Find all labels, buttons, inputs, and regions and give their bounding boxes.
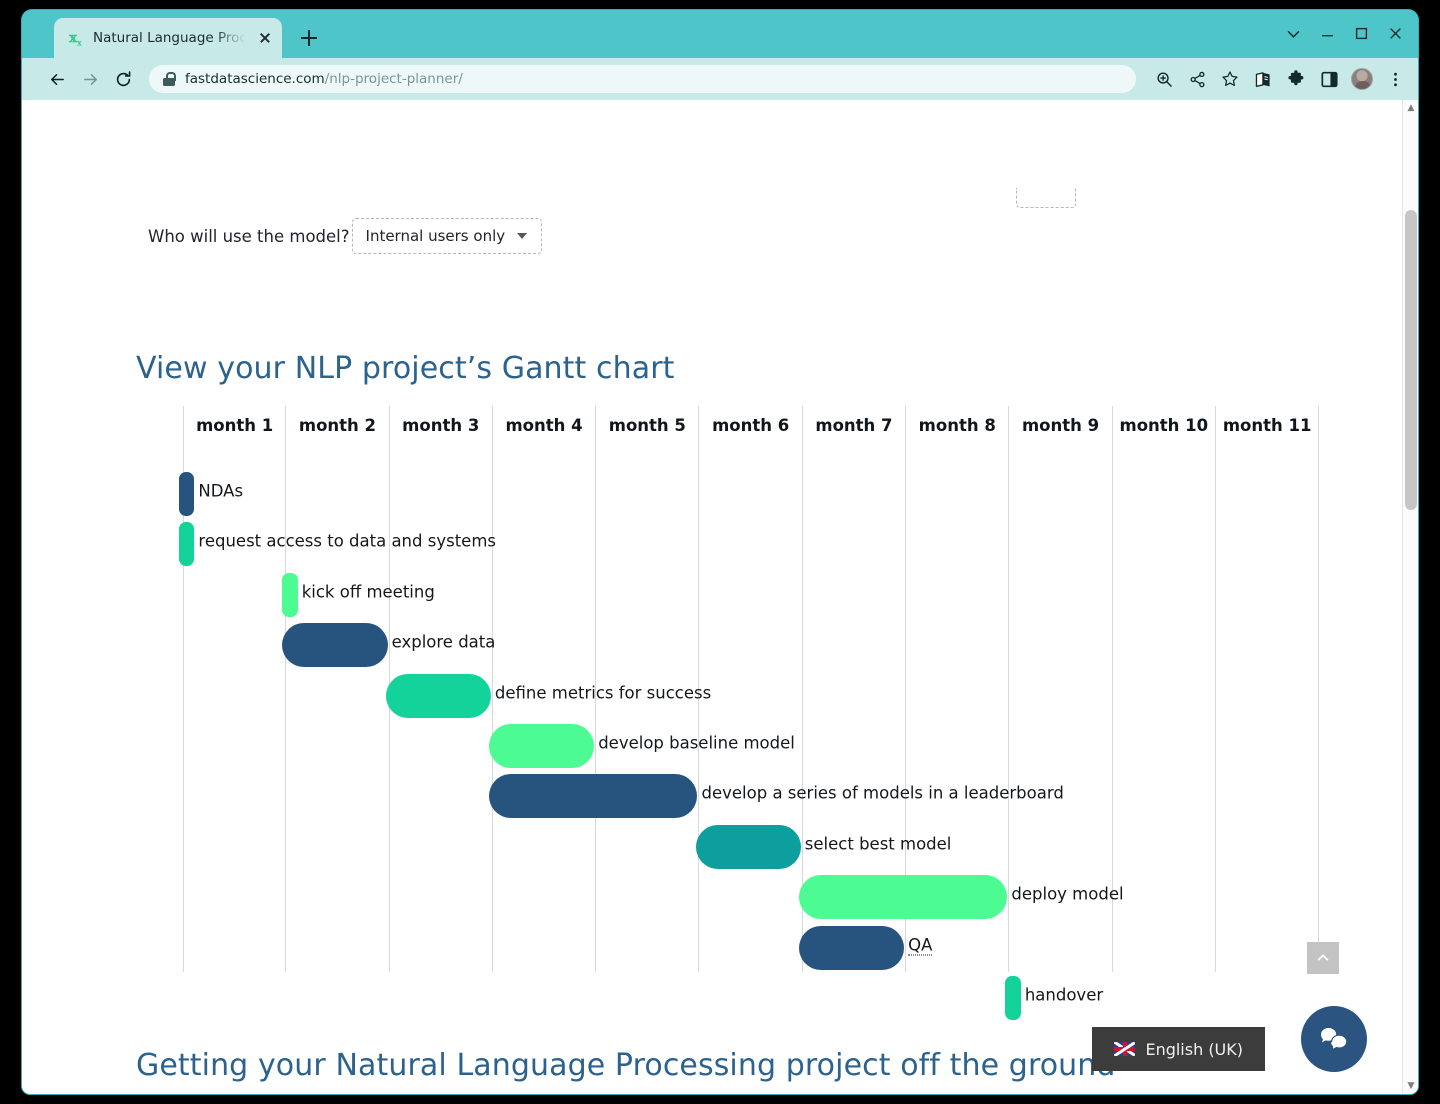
tab-close-icon[interactable]	[256, 29, 274, 47]
forward-arrow-icon[interactable]	[75, 64, 105, 94]
url-text: fastdatascience.com/nlp-project-planner/	[185, 71, 463, 87]
language-selector[interactable]: English (UK)	[1092, 1027, 1265, 1071]
gantt-bar-label: deploy model	[1011, 885, 1123, 904]
chat-widget-button[interactable]	[1301, 1006, 1367, 1072]
model-users-select-value: Internal users only	[366, 227, 506, 245]
gantt-bar[interactable]	[1005, 976, 1020, 1020]
gantt-bar-label: QA	[908, 935, 932, 954]
bookmark-star-icon[interactable]	[1215, 64, 1245, 94]
page-viewport: Who will use the model? Internal users o…	[22, 100, 1418, 1094]
intro-paragraph: Now you’ve made a draft Gantt chart for …	[138, 1093, 1326, 1094]
page-content: Who will use the model? Internal users o…	[22, 100, 1401, 1094]
url-path: /nlp-project-planner/	[325, 71, 463, 87]
gantt-bar-label: explore data	[392, 633, 496, 652]
window-controls	[1276, 18, 1412, 48]
address-bar[interactable]: fastdatascience.com/nlp-project-planner/	[149, 65, 1136, 93]
gantt-task-row: handover	[183, 970, 1319, 1020]
gantt-column-label: month 2	[286, 416, 388, 435]
close-window-icon[interactable]	[1378, 18, 1412, 48]
partial-field-above-fold	[1016, 188, 1076, 208]
gantt-task-row: develop baseline model	[183, 718, 1319, 768]
url-domain: fastdatascience.com	[185, 71, 325, 87]
caret-down-icon	[517, 233, 527, 239]
gantt-chart: month 1month 2month 3month 4month 5month…	[183, 406, 1319, 972]
reading-list-icon[interactable]	[1248, 64, 1278, 94]
gantt-column-label: month 8	[906, 416, 1008, 435]
gantt-column-label: month 6	[700, 416, 802, 435]
gantt-column-label: month 10	[1113, 416, 1215, 435]
gantt-bar-label: NDAs	[198, 482, 243, 501]
tab-title: Natural Language Proces	[93, 30, 247, 46]
new-tab-button[interactable]	[297, 26, 321, 50]
gantt-column-label: month 9	[1009, 416, 1111, 435]
tab-strip: 𝕩x Natural Language Proces	[22, 10, 1418, 58]
gantt-task-row: NDAs	[183, 466, 1319, 516]
gantt-bar[interactable]	[282, 573, 297, 617]
gantt-column-label: month 3	[390, 416, 492, 435]
gantt-column-label: month 7	[803, 416, 905, 435]
gantt-bar-label: kick off meeting	[302, 582, 435, 601]
side-panel-icon[interactable]	[1314, 64, 1344, 94]
share-icon[interactable]	[1182, 64, 1212, 94]
gantt-bar[interactable]	[489, 774, 698, 818]
browser-toolbar: fastdatascience.com/nlp-project-planner/	[22, 58, 1418, 100]
browser-window: 𝕩x Natural Language Proces	[22, 10, 1418, 1094]
profile-avatar[interactable]	[1347, 64, 1377, 94]
model-users-select[interactable]: Internal users only	[352, 218, 543, 254]
gantt-bar-label: handover	[1025, 986, 1103, 1005]
gantt-bar[interactable]	[489, 724, 594, 768]
lock-icon	[163, 72, 175, 86]
extensions-puzzle-icon[interactable]	[1281, 64, 1311, 94]
gantt-bar-label: select best model	[805, 834, 952, 853]
gantt-task-row: define metrics for success	[183, 668, 1319, 718]
gantt-bar-label: define metrics for success	[495, 683, 711, 702]
gantt-bar-label: develop a series of models in a leaderbo…	[702, 784, 1064, 803]
minimize-icon[interactable]	[1310, 18, 1344, 48]
gantt-bar[interactable]	[179, 522, 194, 566]
gantt-task-row: kick off meeting	[183, 567, 1319, 617]
tab-search-chevron-down-icon[interactable]	[1276, 18, 1310, 48]
scroll-down-arrow-icon[interactable]: ▼	[1403, 1078, 1418, 1094]
chrome-menu-icon[interactable]	[1380, 64, 1410, 94]
gantt-task-row: request access to data and systems	[183, 516, 1319, 566]
question-label: Who will use the model?	[148, 227, 350, 246]
gantt-bar[interactable]	[799, 926, 904, 970]
gantt-task-row: deploy model	[183, 869, 1319, 919]
gantt-task-row: select best model	[183, 819, 1319, 869]
page-scrollbar-thumb[interactable]	[1405, 210, 1417, 510]
uk-flag-icon	[1114, 1042, 1135, 1056]
gantt-heading: View your NLP project’s Gantt chart	[136, 351, 675, 386]
gantt-bar[interactable]	[179, 472, 194, 516]
gantt-column-label: month 1	[184, 416, 285, 435]
maximize-icon[interactable]	[1344, 18, 1378, 48]
gantt-bar[interactable]	[799, 875, 1008, 919]
page-scrollbar[interactable]: ▲ ▼	[1402, 100, 1418, 1094]
browser-tab[interactable]: 𝕩x Natural Language Proces	[54, 18, 282, 58]
gantt-bar-label: develop baseline model	[598, 734, 795, 753]
scroll-to-top-button[interactable]	[1307, 942, 1339, 974]
gantt-column-label: month 11	[1216, 416, 1318, 435]
gantt-task-row: explore data	[183, 617, 1319, 667]
scroll-up-arrow-icon[interactable]: ▲	[1403, 100, 1418, 116]
question-row: Who will use the model? Internal users o…	[148, 218, 542, 254]
gantt-bar[interactable]	[696, 825, 801, 869]
gantt-bar[interactable]	[282, 623, 387, 667]
gantt-column-label: month 5	[596, 416, 698, 435]
chat-bubbles-icon	[1317, 1022, 1351, 1056]
gantt-task-row: QA	[183, 920, 1319, 970]
gantt-bar-label: request access to data and systems	[198, 532, 496, 551]
gantt-column-label: month 4	[493, 416, 595, 435]
nlp-favicon-icon: 𝕩x	[67, 30, 84, 47]
gantt-bar[interactable]	[386, 674, 491, 718]
chevron-up-icon	[1317, 952, 1329, 964]
avatar-image	[1351, 68, 1373, 90]
bottom-heading: Getting your Natural Language Processing…	[136, 1048, 1116, 1083]
zoom-icon[interactable]	[1149, 64, 1179, 94]
gantt-task-row: develop a series of models in a leaderbo…	[183, 768, 1319, 818]
reload-icon[interactable]	[108, 64, 138, 94]
back-arrow-icon[interactable]	[42, 64, 72, 94]
language-label: English (UK)	[1145, 1040, 1243, 1059]
